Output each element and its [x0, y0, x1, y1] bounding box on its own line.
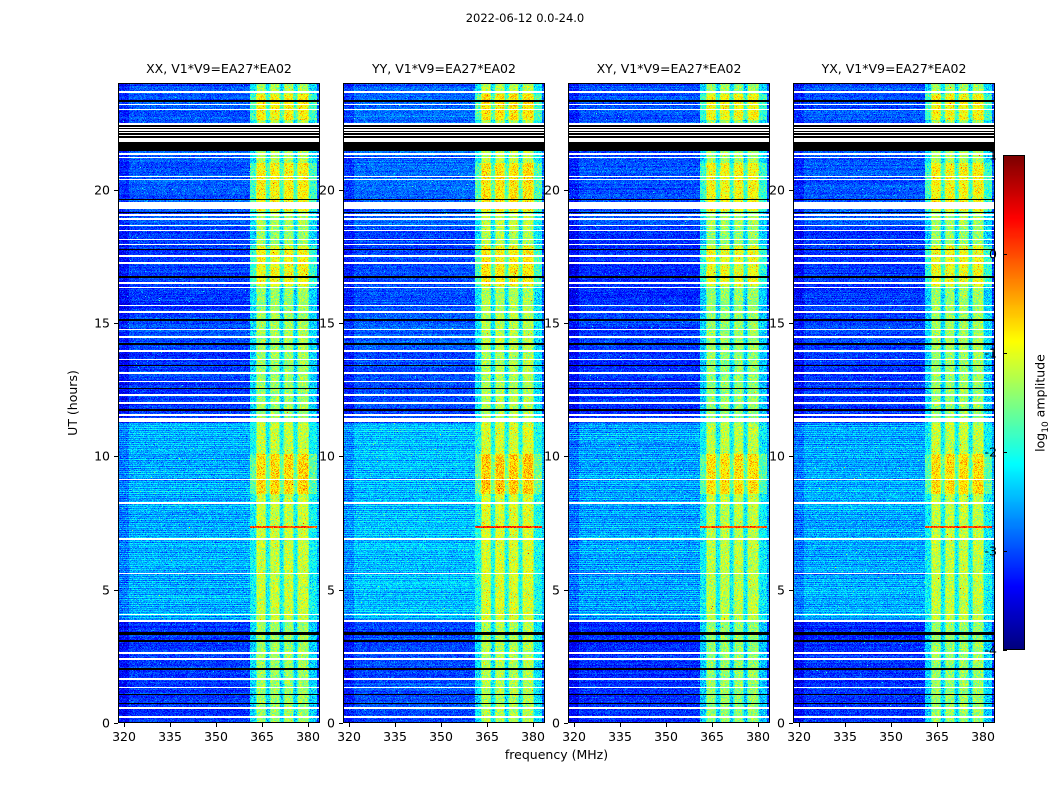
- panel-image-xx: [118, 83, 320, 723]
- x-tick-label: 320: [337, 729, 361, 744]
- colorbar-tick-mark: [1003, 452, 1007, 453]
- y-tick-mark: [339, 190, 343, 191]
- y-tick-label: 10: [530, 449, 560, 464]
- x-tick-mark: [124, 723, 125, 727]
- colorbar-gradient: [1003, 155, 1025, 650]
- y-tick-mark: [114, 323, 118, 324]
- x-tick-mark: [983, 723, 984, 727]
- y-tick-mark: [789, 723, 793, 724]
- y-tick-mark: [789, 590, 793, 591]
- x-tick-label: 335: [608, 729, 632, 744]
- y-tick-mark: [789, 190, 793, 191]
- x-tick-label: 365: [475, 729, 499, 744]
- y-tick-mark: [564, 590, 568, 591]
- x-tick-mark: [799, 723, 800, 727]
- x-tick-label: 365: [250, 729, 274, 744]
- colorbar-tick-label: -2: [967, 445, 997, 460]
- waterfall-panel-xx[interactable]: XX, V1*V9=EA27*EA02: [118, 83, 320, 723]
- y-tick-label: 0: [755, 716, 785, 731]
- y-tick-mark: [789, 456, 793, 457]
- x-tick-label: 350: [429, 729, 453, 744]
- y-axis-label: UT (hours): [65, 370, 80, 436]
- y-tick-label: 5: [80, 583, 110, 598]
- x-tick-mark: [216, 723, 217, 727]
- colorbar-label-main: log: [1033, 432, 1048, 451]
- y-tick-mark: [564, 323, 568, 324]
- x-tick-mark: [845, 723, 846, 727]
- waterfall-panel-xy[interactable]: XY, V1*V9=EA27*EA02: [568, 83, 770, 723]
- colorbar-tick-label: -3: [967, 544, 997, 559]
- y-tick-label: 5: [305, 583, 335, 598]
- colorbar-tick-mark: [1003, 155, 1007, 156]
- x-tick-label: 320: [562, 729, 586, 744]
- colorbar-tick-label: -1: [967, 346, 997, 361]
- colorbar-tick-label: -4: [967, 643, 997, 658]
- colorbar-label-sub: 10: [1041, 421, 1050, 432]
- y-tick-label: 10: [80, 449, 110, 464]
- x-tick-mark: [262, 723, 263, 727]
- x-tick-label: 380: [971, 729, 995, 744]
- x-tick-label: 320: [112, 729, 136, 744]
- x-tick-label: 335: [158, 729, 182, 744]
- x-tick-label: 380: [746, 729, 770, 744]
- y-tick-mark: [339, 323, 343, 324]
- y-tick-mark: [114, 456, 118, 457]
- colorbar-label-tail: amplitude: [1033, 354, 1048, 421]
- y-tick-label: 10: [305, 449, 335, 464]
- y-tick-mark: [564, 456, 568, 457]
- x-tick-mark: [891, 723, 892, 727]
- x-tick-label: 380: [521, 729, 545, 744]
- x-tick-mark: [487, 723, 488, 727]
- y-tick-label: 20: [755, 183, 785, 198]
- y-tick-mark: [564, 190, 568, 191]
- y-tick-mark: [114, 723, 118, 724]
- y-tick-mark: [564, 723, 568, 724]
- x-tick-mark: [574, 723, 575, 727]
- x-tick-mark: [349, 723, 350, 727]
- y-tick-label: 20: [305, 183, 335, 198]
- x-tick-label: 350: [879, 729, 903, 744]
- waterfall-panel-yy[interactable]: YY, V1*V9=EA27*EA02: [343, 83, 545, 723]
- colorbar-tick-label: 0: [967, 247, 997, 262]
- colorbar-tick-label: 1: [967, 148, 997, 163]
- panel-image-yx: [793, 83, 995, 723]
- y-tick-label: 0: [80, 716, 110, 731]
- waterfall-panel-yx[interactable]: YX, V1*V9=EA27*EA02: [793, 83, 995, 723]
- colorbar-tick-mark: [1003, 551, 1007, 552]
- panel-image-yy: [343, 83, 545, 723]
- x-tick-mark: [395, 723, 396, 727]
- y-tick-mark: [789, 323, 793, 324]
- waterfall-figure: 2022-06-12 0.0-24.0 XX, V1*V9=EA27*EA023…: [0, 0, 1050, 800]
- colorbar-tick-mark: [1003, 650, 1007, 651]
- y-tick-label: 15: [530, 316, 560, 331]
- y-tick-mark: [114, 190, 118, 191]
- panel-title-xy: XY, V1*V9=EA27*EA02: [597, 61, 742, 76]
- y-tick-label: 20: [530, 183, 560, 198]
- x-tick-label: 350: [204, 729, 228, 744]
- x-tick-label: 320: [787, 729, 811, 744]
- panel-title-yx: YX, V1*V9=EA27*EA02: [822, 61, 967, 76]
- x-tick-mark: [441, 723, 442, 727]
- x-tick-mark: [712, 723, 713, 727]
- x-tick-mark: [620, 723, 621, 727]
- panel-title-yy: YY, V1*V9=EA27*EA02: [372, 61, 516, 76]
- x-tick-label: 365: [700, 729, 724, 744]
- y-tick-label: 15: [755, 316, 785, 331]
- x-tick-label: 365: [925, 729, 949, 744]
- x-tick-mark: [666, 723, 667, 727]
- figure-suptitle: 2022-06-12 0.0-24.0: [0, 11, 1050, 25]
- x-tick-mark: [937, 723, 938, 727]
- y-tick-label: 5: [755, 583, 785, 598]
- y-tick-label: 0: [530, 716, 560, 731]
- y-tick-label: 0: [305, 716, 335, 731]
- y-tick-label: 10: [755, 449, 785, 464]
- y-tick-mark: [339, 456, 343, 457]
- y-tick-label: 15: [80, 316, 110, 331]
- colorbar[interactable]: [1003, 155, 1025, 650]
- x-tick-mark: [170, 723, 171, 727]
- x-tick-label: 335: [383, 729, 407, 744]
- y-tick-mark: [114, 590, 118, 591]
- x-tick-label: 350: [654, 729, 678, 744]
- x-tick-label: 380: [296, 729, 320, 744]
- panel-image-xy: [568, 83, 770, 723]
- x-axis-label: frequency (MHz): [118, 747, 995, 762]
- panel-title-xx: XX, V1*V9=EA27*EA02: [146, 61, 292, 76]
- y-tick-mark: [339, 723, 343, 724]
- x-tick-label: 335: [833, 729, 857, 744]
- colorbar-tick-mark: [1003, 353, 1007, 354]
- y-tick-label: 15: [305, 316, 335, 331]
- y-tick-label: 20: [80, 183, 110, 198]
- y-tick-label: 5: [530, 583, 560, 598]
- colorbar-label: log10 amplitude: [1033, 354, 1050, 452]
- y-tick-mark: [339, 590, 343, 591]
- colorbar-tick-mark: [1003, 254, 1007, 255]
